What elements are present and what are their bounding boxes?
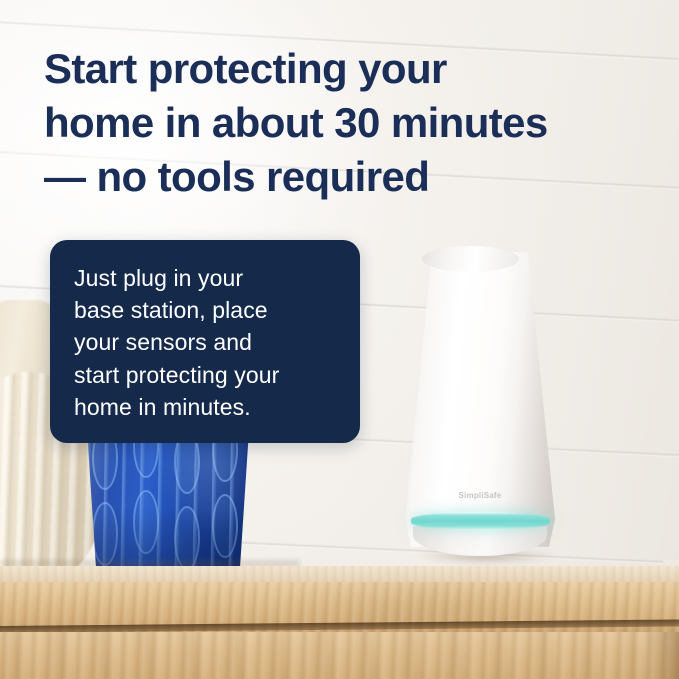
base-station-top-cap [422, 246, 519, 272]
base-station-foot [413, 526, 547, 556]
drawer-right-shadow [641, 632, 679, 679]
table-drawer-front [0, 632, 679, 679]
base-station-shading [405, 246, 555, 556]
base-station-led-ring [411, 512, 550, 530]
page-headline: Start protecting your home in about 30 m… [44, 42, 644, 205]
marketing-image-scene: SimpliSafe Start protecting your home in… [0, 0, 679, 679]
simplisafe-base-station: SimpliSafe [405, 246, 555, 556]
drawer-grain [0, 632, 679, 679]
simplisafe-logo: SimpliSafe [405, 491, 555, 500]
callout-box: Just plug in your base station, place yo… [50, 240, 360, 443]
